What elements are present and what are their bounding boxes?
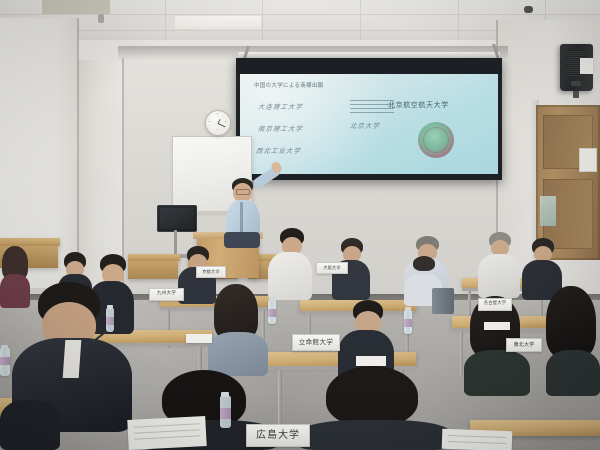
calligraphy-logo-1: 大连理工大学 — [257, 101, 303, 111]
audience-member — [268, 228, 312, 300]
desk-leg — [460, 331, 463, 377]
wall-corner — [77, 18, 79, 290]
clock-minute-hand — [218, 123, 226, 127]
door-window — [540, 196, 556, 226]
audience-member — [478, 232, 520, 298]
wall-monitor — [157, 205, 197, 232]
calligraphy-logo-2: 南京理工大学 — [257, 123, 303, 133]
document-sheet — [356, 356, 386, 366]
calligraphy-logo-4: 北京大学 — [349, 120, 380, 130]
shirt-collar — [63, 340, 82, 378]
speaker-tweeter — [571, 81, 581, 86]
slide-hatch-mark — [350, 98, 394, 114]
ceiling-vent — [42, 0, 110, 14]
audience-member — [300, 366, 450, 450]
beihang-university-seal-icon — [418, 122, 454, 158]
nameplate-tohoku: 東北大学 — [506, 338, 542, 352]
nameplate-kyoto: 京都大学 — [196, 266, 226, 278]
front-bench — [128, 254, 180, 261]
water-bottle — [220, 396, 231, 428]
document-sheet — [442, 429, 513, 450]
entrance-door[interactable] — [536, 105, 600, 260]
water-bottle — [0, 348, 10, 376]
presenter-lanyard — [240, 202, 243, 232]
slide-title: 中国の大学による商標出願 — [254, 81, 323, 89]
audience-member — [208, 284, 268, 376]
wall-notice-small — [580, 58, 593, 74]
audience-member — [0, 400, 60, 450]
calligraphy-logo-3: 西北工业大学 — [255, 145, 301, 155]
document-sheet — [186, 334, 212, 343]
security-camera-icon — [524, 6, 533, 13]
wall-clock-icon — [205, 110, 231, 136]
nameplate-nagoya: 名古屋大学 — [478, 298, 512, 311]
water-bottle — [404, 310, 412, 334]
ceiling-fixture — [98, 14, 104, 23]
document-sheet — [484, 322, 510, 330]
trash-bin — [432, 288, 454, 314]
front-bench — [0, 238, 60, 246]
audience-member — [546, 286, 600, 396]
nameplate-ritsumeikan: 立命館大学 — [292, 334, 340, 351]
nameplate-kyushu: 九州大学 — [149, 288, 184, 301]
wall-notice — [579, 148, 597, 172]
document-sheet — [127, 416, 206, 450]
water-bottle — [106, 308, 114, 332]
presenter-trousers — [224, 232, 260, 248]
water-bottle — [268, 300, 276, 324]
ceiling-light — [175, 16, 261, 29]
nameplate-hiroshima: 広島大学 — [246, 424, 310, 447]
monitor-stem — [174, 230, 177, 256]
slide-surface: 中国の大学による商標出願 北京航空航天大学 大连理工大学 南京理工大学 西北工业… — [240, 74, 498, 174]
screen-top-band — [236, 58, 502, 74]
desk-leg — [278, 370, 282, 430]
front-bench-front — [128, 261, 178, 279]
monitor-screen — [160, 208, 194, 229]
nameplate-osaka: 大阪大学 — [316, 262, 348, 274]
slide-featured-university: 北京航空航天大学 — [388, 100, 449, 110]
presenter-glasses — [236, 189, 250, 195]
speaker-mount — [573, 91, 579, 98]
seminar-room-photo: 中国の大学による商標出願 北京航空航天大学 大连理工大学 南京理工大学 西北工业… — [0, 0, 600, 450]
